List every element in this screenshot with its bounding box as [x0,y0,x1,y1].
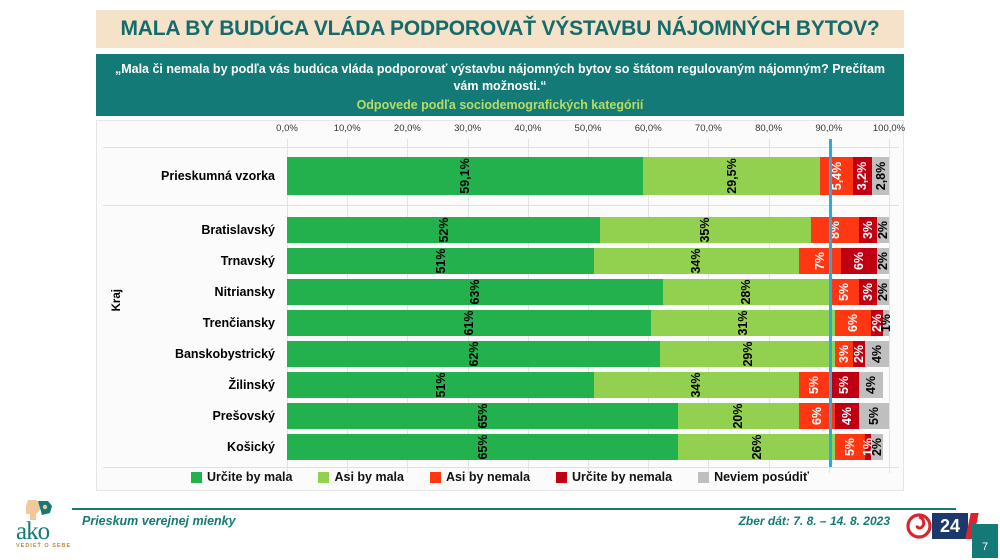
bar-segment[interactable]: 65% [287,403,678,429]
bar-segment-label: 4% [870,345,884,363]
bar-segment-label: 26% [750,434,764,459]
legend-item[interactable]: Asi by nemala [430,470,530,484]
bar-segment-label: 2% [876,252,890,270]
bar-segment-label: 3% [861,221,875,239]
legend-item[interactable]: Neviem posúdiť [698,470,809,484]
bar-segment[interactable]: 29,5% [643,157,821,195]
legend-label: Asi by mala [334,470,403,484]
bar-segment-label: 2% [876,283,890,301]
legend-label: Určite by nemala [572,470,672,484]
chart-row: Trnavský51%34%7%6%2% [97,248,905,274]
ako-logo: ako VEDIEŤ O SEBE [14,498,88,556]
row-label: Trnavský [97,254,287,268]
legend-swatch [698,472,709,483]
bar-segment[interactable]: 26% [678,434,835,460]
x-axis-tick: 0,0% [276,123,298,134]
x-axis-tick: 40,0% [514,123,541,134]
bar-segment[interactable]: 3% [859,279,877,305]
legend-swatch [430,472,441,483]
x-axis-tick: 10,0% [334,123,361,134]
bar-segment-label: 3% [837,345,851,363]
chart-row: Prieskumná vzorka59,1%29,5%5,4%3,2%2,8% [97,157,905,195]
x-axis-tick: 90,0% [815,123,842,134]
legend-label: Neviem posúdiť [714,470,809,484]
bar-segment-label: 5% [837,376,851,394]
question-band: „Mala či nemala by podľa vás budúca vlád… [96,54,904,116]
bar-segment[interactable]: 5% [859,403,889,429]
bar-segment[interactable]: 1% [883,310,889,336]
bar-segment-label: 6% [846,314,860,332]
x-axis-tick: 30,0% [454,123,481,134]
bar-segment-label: 5% [807,376,821,394]
chart-row: Prešovský65%20%6%4%5% [97,403,905,429]
bar-segment-label: 65% [476,403,490,428]
bar-segment[interactable]: 3% [859,217,877,243]
reference-line [829,139,832,467]
page-title: MALA BY BUDÚCA VLÁDA PODPOROVAŤ VÝSTAVBU… [120,17,879,41]
row-label: Žilinský [97,378,287,392]
ako-wordmark: ako [16,518,49,546]
row-label: Nitriansky [97,285,287,299]
bar-segment[interactable]: 6% [835,310,871,336]
bar-segment[interactable]: 29% [660,341,835,367]
bar-segment[interactable]: 34% [594,248,799,274]
bar-segment[interactable]: 4% [865,341,889,367]
legend-item[interactable]: Určite by mala [191,470,292,484]
bar-segment-label: 34% [689,372,703,397]
bar-segment-label: 5% [867,407,881,425]
bar-segment-label: 62% [467,341,481,366]
bar-segment[interactable]: 2% [871,310,883,336]
legend-label: Asi by nemala [446,470,530,484]
plot-area: Kraj Prieskumná vzorka59,1%29,5%5,4%3,2%… [97,139,905,473]
bar-segment[interactable]: 3,2% [853,157,872,195]
bar-segment-label: 59,1% [458,158,472,193]
slide: MALA BY BUDÚCA VLÁDA PODPOROVAŤ VÝSTAVBU… [0,0,1000,560]
bar-segment-label: 2% [876,221,890,239]
chart-row: Žilinský51%34%5%5%4% [97,372,905,398]
bar-segment[interactable]: 59,1% [287,157,643,195]
x-axis-tick: 60,0% [635,123,662,134]
bar-segment[interactable]: 65% [287,434,678,460]
bar-segment-label: 65% [476,434,490,459]
bar-segment-label: 4% [864,376,878,394]
bar-segment-label: 51% [434,248,448,273]
bar-segment[interactable]: 51% [287,372,594,398]
bar-segment[interactable]: 52% [287,217,600,243]
bar-segment[interactable]: 20% [678,403,798,429]
stacked-bar[interactable]: 52%35%8%3%2% [287,217,889,243]
bar-segment[interactable]: 61% [287,310,651,336]
x-axis-tick: 50,0% [575,123,602,134]
chart-row: Banskobystrický62%29%3%2%4% [97,341,905,367]
bar-segment-label: 3% [861,283,875,301]
bar-segment[interactable]: 63% [287,279,663,305]
bar-segment-label: 63% [468,279,482,304]
stacked-bar[interactable]: 61%31%6%2%1% [287,310,889,336]
row-label: Bratislavský [97,223,287,237]
stacked-bar[interactable]: 59,1%29,5%5,4%3,2%2,8% [287,157,889,195]
row-separator [103,147,899,148]
bar-segment-label: 2,8% [874,162,888,191]
bar-segment[interactable]: 2% [877,217,889,243]
bar-segment-label: 4% [840,407,854,425]
bar-segment[interactable]: 5% [829,372,859,398]
chart-panel: 0,0%10,0%20,0%30,0%40,0%50,0%60,0%70,0%8… [96,120,904,491]
legend-item[interactable]: Určite by nemala [556,470,672,484]
question-sub-text: Odpovede podľa sociodemografických kateg… [357,98,644,112]
chart-row: Bratislavský52%35%8%3%2% [97,217,905,243]
bar-segment-label: 3,2% [855,162,869,191]
tv24-number: 24 [932,513,968,539]
x-axis: 0,0%10,0%20,0%30,0%40,0%50,0%60,0%70,0%8… [97,121,905,139]
bar-segment[interactable]: 2% [877,279,889,305]
stacked-bar[interactable]: 63%28%5%3%2% [287,279,889,305]
bar-segment-label: 51% [434,372,448,397]
bar-segment[interactable]: 5% [799,372,829,398]
bar-segment[interactable]: 62% [287,341,660,367]
bar-segment[interactable]: 5,4% [820,157,853,195]
chart-legend: Určite by malaAsi by malaAsi by nemalaUr… [96,464,904,490]
footer-note: Prieskum verejnej mienky [82,514,236,528]
x-axis-tick: 80,0% [755,123,782,134]
bar-segment-label: 2% [852,345,866,363]
page-number: 7 [972,524,998,558]
row-label: Prešovský [97,409,287,423]
footer-date: Zber dát: 7. 8. – 14. 8. 2023 [739,514,890,528]
stacked-bar[interactable]: 51%34%7%6%2% [287,248,889,274]
legend-item[interactable]: Asi by mala [318,470,403,484]
bar-segment[interactable]: 35% [600,217,811,243]
row-label: Trenčiansky [97,316,287,330]
bar-segment-label: 20% [731,403,745,428]
bar-segment-label: 6% [852,252,866,270]
bar-segment-label: 52% [437,217,451,242]
bar-segment[interactable]: 5% [829,279,859,305]
bar-segment-label: 2% [870,314,884,332]
bar-segment[interactable]: 8% [811,217,859,243]
bar-segment[interactable]: 2% [877,248,889,274]
bar-segment-label: 34% [689,248,703,273]
x-axis-tick: 20,0% [394,123,421,134]
bar-segment[interactable]: 4% [859,372,883,398]
row-label: Košický [97,440,287,454]
bar-segment[interactable]: 28% [663,279,830,305]
bar-segment-label: 29,5% [725,158,739,193]
bar-segment[interactable]: 34% [594,372,799,398]
stacked-bar[interactable]: 65%20%6%4%5% [287,403,889,429]
bar-segment[interactable]: 2% [871,434,883,460]
bar-segment-label: 28% [739,279,753,304]
bar-segment-label: 5% [843,438,857,456]
bar-segment-label: 29% [741,341,755,366]
bar-segment[interactable]: 4% [835,403,859,429]
stacked-bar[interactable]: 51%34%5%5%4% [287,372,889,398]
question-main-text: „Mala či nemala by podľa vás budúca vlád… [110,61,890,94]
tv24-logo: 24 [906,512,982,542]
row-label: Banskobystrický [97,347,287,361]
spiral-icon [906,512,932,540]
bar-segment[interactable]: 31% [651,310,836,336]
ako-tagline: VEDIEŤ O SEBE [16,543,71,549]
row-label: Prieskumná vzorka [97,169,287,183]
x-axis-tick: 100,0% [873,123,905,134]
bar-segment[interactable]: 7% [799,248,841,274]
chart-row: Trenčiansky61%31%6%2%1% [97,310,905,336]
bar-segment[interactable]: 3% [835,341,853,367]
bar-segment-label: 35% [698,217,712,242]
bar-segment[interactable]: 2% [853,341,865,367]
bar-segment-label: 2% [870,438,884,456]
row-separator [103,205,899,206]
stacked-bar[interactable]: 65%26%5%1%2% [287,434,889,460]
bar-segment-label: 61% [462,310,476,335]
bar-segment-label: 7% [813,252,827,270]
footer-divider [72,508,956,510]
legend-swatch [556,472,567,483]
title-band: MALA BY BUDÚCA VLÁDA PODPOROVAŤ VÝSTAVBU… [96,10,904,48]
legend-swatch [318,472,329,483]
chart-row: Košický65%26%5%1%2% [97,434,905,460]
legend-swatch [191,472,202,483]
bar-segment[interactable]: 2,8% [872,157,889,195]
bar-segment-label: 31% [736,310,750,335]
chart-row: Nitriansky63%28%5%3%2% [97,279,905,305]
bar-segment[interactable]: 51% [287,248,594,274]
x-axis-tick: 70,0% [695,123,722,134]
stacked-bar[interactable]: 62%29%3%2%4% [287,341,889,367]
bar-segment[interactable]: 5% [835,434,865,460]
bar-segment[interactable]: 6% [841,248,877,274]
bar-segment-label: 6% [810,407,824,425]
legend-label: Určite by mala [207,470,292,484]
bar-segment-label: 5% [837,283,851,301]
